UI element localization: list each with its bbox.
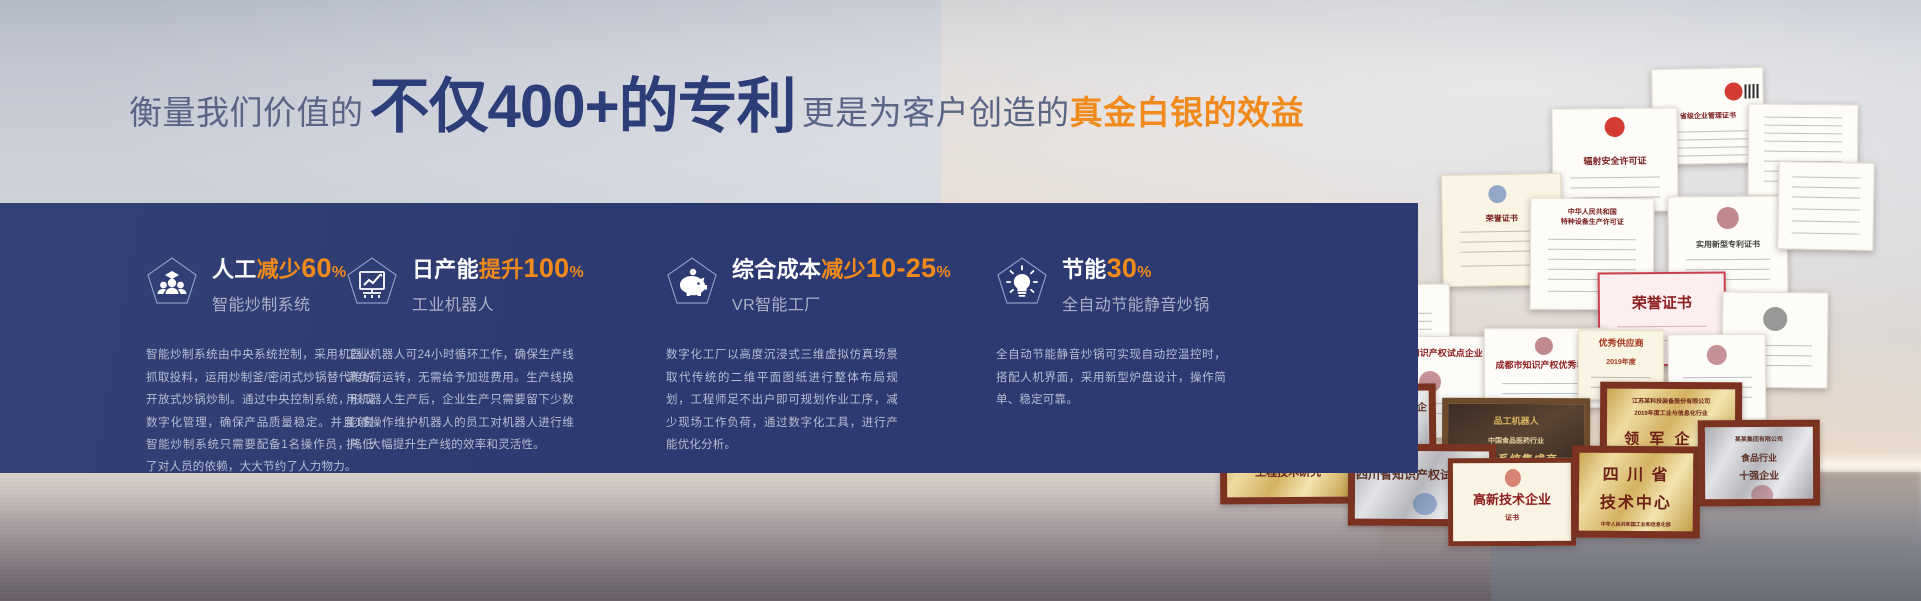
stat-action: 减少 [821, 257, 866, 282]
headline-middle: 更是为客户创造的 [802, 96, 1070, 129]
feature-subtitle: 智能炒制系统 [212, 291, 346, 315]
feature-subtitle: VR智能工厂 [732, 291, 951, 315]
piggy-bank-icon [666, 255, 718, 307]
feature-body: 数字化工厂以高度沉浸式三维虚拟仿真场景取代传统的二维平面图纸进行整体布局规划，工… [666, 344, 898, 456]
hero-banner: 衡量我们价值的 不仅400+的专利 更是为客户创造的 真金白银的效益 省级企业管… [0, 0, 1921, 601]
feature-stat: 日产能提升100% [412, 254, 584, 282]
chart-board-icon [346, 255, 398, 307]
stat-unit: % [1137, 264, 1152, 281]
stat-prefix: 日产能 [412, 257, 479, 282]
headline-prefix: 衡量我们价值的 [129, 96, 364, 129]
stat-number: 10-25 [866, 253, 937, 283]
certificate-reflection [1380, 472, 1921, 567]
feature-header: 日产能提升100% 工业机器人 [346, 253, 660, 315]
feature-subtitle: 全自动节能静音炒锅 [1062, 291, 1210, 315]
feature-header: 综合成本减少10-25% VR智能工厂 [666, 253, 990, 315]
feature-column-4: 节能30% 全自动节能静音炒锅 全自动节能静音炒锅可实现自动控温控时，搭配人机界… [990, 203, 1320, 473]
feature-stat: 节能30% [1062, 254, 1210, 282]
stat-action: 提升 [479, 257, 524, 282]
feature-header: 人工减少60% 智能炒制系统 [146, 253, 340, 315]
feature-text: 人工减少60% 智能炒制系统 [212, 253, 346, 315]
lightbulb-icon [996, 255, 1048, 307]
feature-stat: 人工减少60% [212, 254, 346, 282]
people-group-icon [146, 255, 198, 307]
feature-header: 节能30% 全自动节能静音炒锅 [996, 253, 1320, 315]
stat-unit: % [569, 264, 584, 281]
stat-prefix: 人工 [212, 257, 257, 282]
stat-prefix: 节能 [1062, 257, 1107, 282]
feature-body: 工业机器人可24小时循环工作，确保生产线满负荷运转，无需给予加班费用。生产线换用… [346, 344, 574, 456]
feature-subtitle: 工业机器人 [412, 291, 584, 315]
feature-text: 节能30% 全自动节能静音炒锅 [1062, 253, 1210, 315]
feature-column-2: 日产能提升100% 工业机器人 工业机器人可24小时循环工作，确保生产线满负荷运… [340, 203, 660, 473]
feature-stat: 综合成本减少10-25% [732, 254, 951, 282]
feature-column-3: 综合成本减少10-25% VR智能工厂 数字化工厂以高度沉浸式三维虚拟仿真场景取… [660, 203, 990, 473]
feature-text: 综合成本减少10-25% VR智能工厂 [732, 253, 951, 315]
stat-number: 30 [1107, 253, 1138, 283]
features-panel: 人工减少60% 智能炒制系统 智能炒制系统由中央系统控制，采用机器人抓取投料，运… [0, 203, 1418, 473]
headline: 衡量我们价值的 不仅400+的专利 更是为客户创造的 真金白银的效益 [129, 74, 1304, 136]
stat-unit: % [936, 264, 951, 281]
headline-emphasis: 不仅400+的专利 [370, 77, 796, 137]
headline-highlight: 真金白银的效益 [1070, 96, 1305, 129]
stat-action: 减少 [257, 257, 302, 282]
feature-text: 日产能提升100% 工业机器人 [412, 253, 584, 315]
stat-number: 60 [301, 253, 332, 283]
stat-number: 100 [524, 253, 570, 283]
stat-prefix: 综合成本 [732, 257, 821, 282]
feature-columns: 人工减少60% 智能炒制系统 智能炒制系统由中央系统控制，采用机器人抓取投料，运… [0, 203, 1418, 473]
feature-column-1: 人工减少60% 智能炒制系统 智能炒制系统由中央系统控制，采用机器人抓取投料，运… [0, 203, 340, 473]
feature-body: 全自动节能静音炒锅可实现自动控温控时，搭配人机界面，采用新型炉盘设计，操作简单、… [996, 344, 1226, 411]
